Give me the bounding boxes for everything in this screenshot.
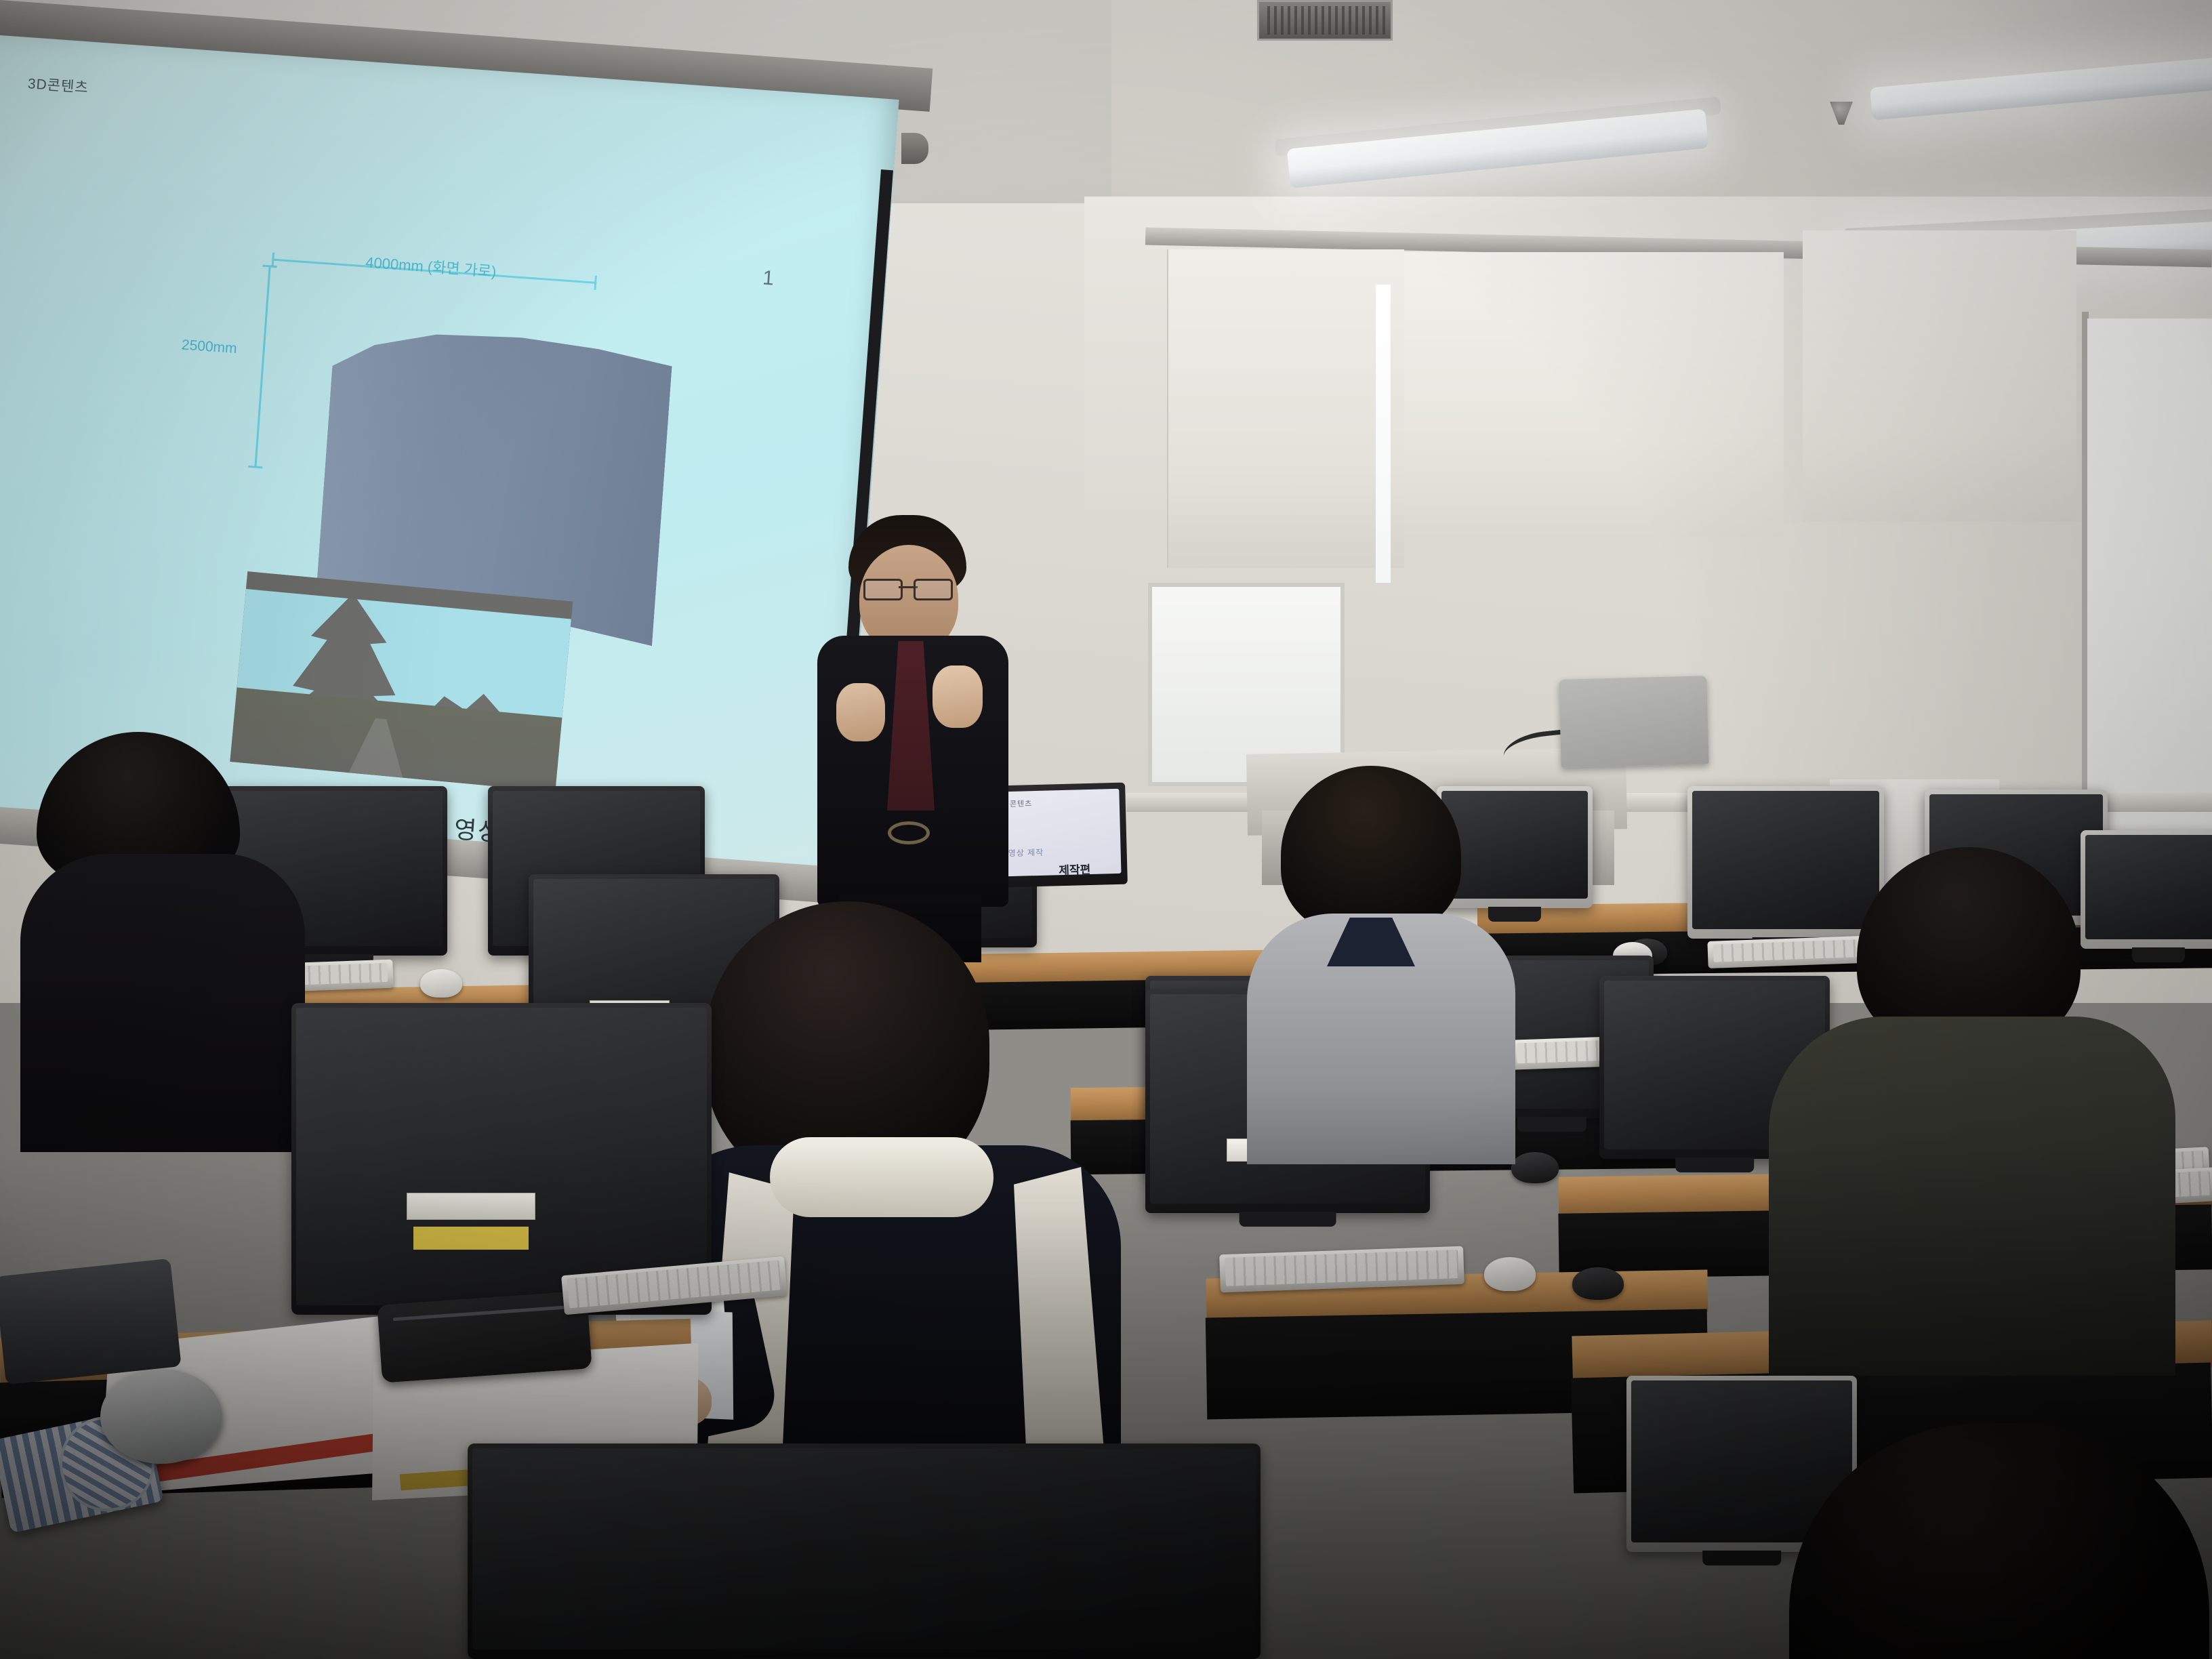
mouse-front-right[interactable] xyxy=(1572,1267,1624,1300)
monitor-screen xyxy=(472,1448,1256,1650)
air-vent-icon xyxy=(1257,0,1393,41)
monitor-screen xyxy=(296,1008,707,1305)
mouse-front-center[interactable] xyxy=(1484,1257,1536,1291)
projection-screen-roller-cap xyxy=(901,133,928,164)
window-blind-center[interactable] xyxy=(1404,252,1784,537)
presenter-belt-buckle xyxy=(888,821,930,844)
chair-foreground-left[interactable] xyxy=(0,1258,182,1385)
dimension-label-vertical: 2500mm xyxy=(181,337,237,357)
window-light-gap xyxy=(1376,285,1391,583)
student-hair xyxy=(1281,766,1461,935)
student-jacket xyxy=(1769,1017,2175,1376)
student-scarf-neck xyxy=(770,1137,994,1217)
student-hair xyxy=(1789,1423,2209,1659)
window-right xyxy=(2087,319,2212,834)
presenter xyxy=(800,515,1023,949)
student-jacket xyxy=(20,854,305,1152)
slide-page-number: 1 xyxy=(762,266,775,290)
macbook-laptop[interactable] xyxy=(1559,676,1708,768)
mouse-mid-left[interactable] xyxy=(420,969,462,998)
monitor-foreground-bottom[interactable] xyxy=(468,1443,1261,1659)
presenter-hand-right xyxy=(933,665,983,728)
glasses-icon xyxy=(863,579,953,596)
student-right xyxy=(1769,847,2203,1376)
dimension-line-vertical xyxy=(254,265,270,468)
asset-label-tag xyxy=(407,1193,535,1220)
student-front-left xyxy=(20,732,319,1152)
pouch-zipper[interactable] xyxy=(393,1305,573,1321)
black-pencil-pouch[interactable] xyxy=(377,1290,592,1382)
silver-tin[interactable] xyxy=(100,1369,222,1464)
presenter-hand-left xyxy=(836,683,885,741)
asset-label-tag-yellow xyxy=(413,1227,529,1250)
window-blind-right[interactable] xyxy=(1803,230,2076,522)
slide-header: 3D콘텐츠 xyxy=(27,73,89,97)
student-front-right-partial xyxy=(1789,1423,2212,1659)
dimension-label-horizontal: 4000mm (화면 가로) xyxy=(365,250,497,281)
student-mid-back xyxy=(1240,766,1525,1159)
lectern-label-right: 제작편 xyxy=(1059,860,1091,878)
window-blind-left[interactable] xyxy=(1167,249,1404,568)
classroom-photo: 3D콘텐츠 1 4000mm (화면 가로) 2500mm 편광은색 스크린 편… xyxy=(0,0,2212,1659)
